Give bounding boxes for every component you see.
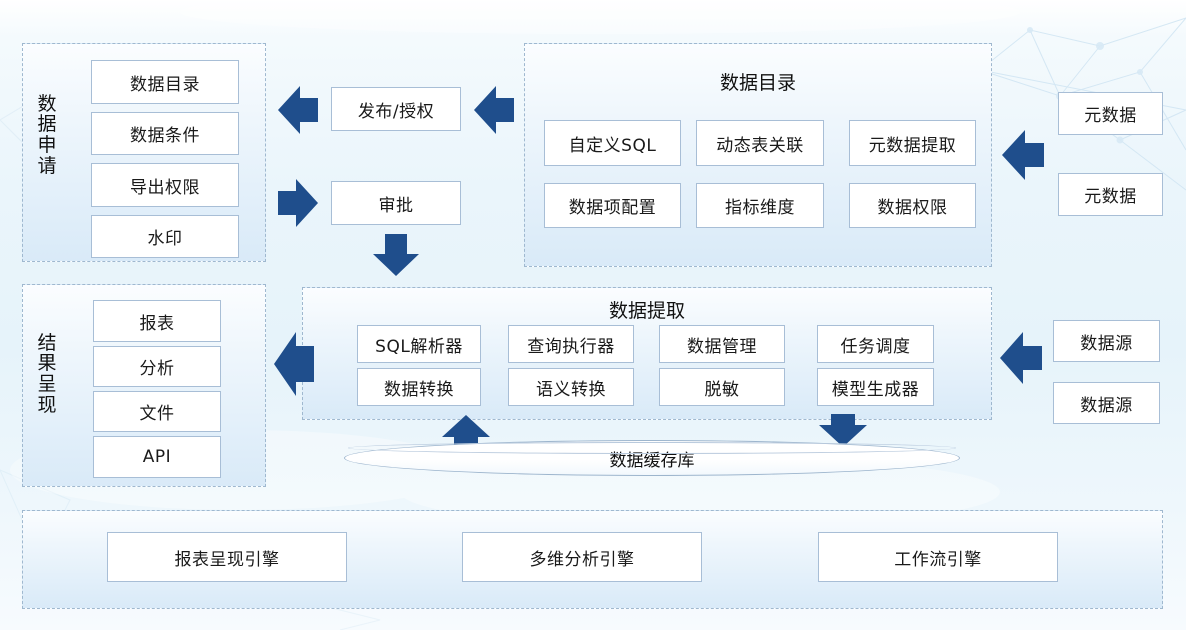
- catalog-item-data-permission[interactable]: 数据权限: [849, 183, 976, 228]
- extract-item-semantic-transform[interactable]: 语义转换: [508, 368, 634, 406]
- metadata-source-box-1[interactable]: 元数据: [1058, 92, 1163, 135]
- extract-item-masking[interactable]: 脱敏: [659, 368, 785, 406]
- data-request-item-catalog[interactable]: 数据目录: [91, 60, 239, 104]
- extract-item-query-executor[interactable]: 查询执行器: [508, 325, 634, 363]
- engine-item-workflow[interactable]: 工作流引擎: [818, 532, 1058, 582]
- arrow-approval-to-extract-icon: [371, 232, 421, 278]
- data-source-box-1[interactable]: 数据源: [1053, 320, 1160, 362]
- data-cache-cylinder-top-ellipse: [348, 442, 956, 454]
- catalog-item-custom-sql[interactable]: 自定义SQL: [544, 120, 681, 166]
- data-source-box-2[interactable]: 数据源: [1053, 382, 1160, 424]
- data-request-item-watermark[interactable]: 水印: [91, 215, 239, 258]
- engine-item-multidim-analysis[interactable]: 多维分析引擎: [462, 532, 702, 582]
- data-request-item-export-permission[interactable]: 导出权限: [91, 163, 239, 207]
- result-item-analysis[interactable]: 分析: [93, 346, 221, 387]
- approval-box[interactable]: 审批: [331, 181, 461, 225]
- publish-authorize-box[interactable]: 发布/授权: [331, 87, 461, 131]
- catalog-item-dynamic-table-join[interactable]: 动态表关联: [696, 120, 824, 166]
- result-presentation-panel-label: 结果呈现: [32, 300, 62, 448]
- metadata-source-box-2[interactable]: 元数据: [1058, 173, 1163, 216]
- arrow-extract-to-result-icon: [272, 328, 316, 400]
- catalog-item-metric-dimension[interactable]: 指标维度: [696, 183, 824, 228]
- data-request-item-conditions[interactable]: 数据条件: [91, 112, 239, 155]
- data-request-panel-label: 数据申请: [32, 60, 62, 210]
- extract-item-data-transform[interactable]: 数据转换: [357, 368, 481, 406]
- arrow-datasource-to-extract-icon: [998, 330, 1044, 386]
- result-item-file[interactable]: 文件: [93, 391, 221, 432]
- engine-item-report-rendering[interactable]: 报表呈现引擎: [107, 532, 347, 582]
- catalog-item-metadata-extraction[interactable]: 元数据提取: [849, 120, 976, 166]
- result-item-report[interactable]: 报表: [93, 300, 221, 342]
- catalog-item-data-item-config[interactable]: 数据项配置: [544, 183, 681, 228]
- data-extract-panel-title: 数据提取: [302, 296, 992, 323]
- extract-item-sql-parser[interactable]: SQL解析器: [357, 325, 481, 363]
- extract-item-data-management[interactable]: 数据管理: [659, 325, 785, 363]
- extract-item-model-generator[interactable]: 模型生成器: [817, 368, 934, 406]
- arrow-publish-to-request-icon: [276, 84, 320, 136]
- result-item-api[interactable]: API: [93, 436, 221, 478]
- arrow-catalog-to-publish-icon: [472, 84, 516, 136]
- extract-item-task-scheduling[interactable]: 任务调度: [817, 325, 934, 363]
- arrow-request-to-approval-icon: [276, 178, 320, 228]
- data-catalog-panel-title: 数据目录: [524, 68, 992, 95]
- diagram-canvas: 数据申请 数据目录 数据条件 导出权限 水印 结果呈现 报表 分析 文件 API…: [0, 0, 1186, 630]
- arrow-metadata-to-catalog-icon: [1000, 128, 1046, 182]
